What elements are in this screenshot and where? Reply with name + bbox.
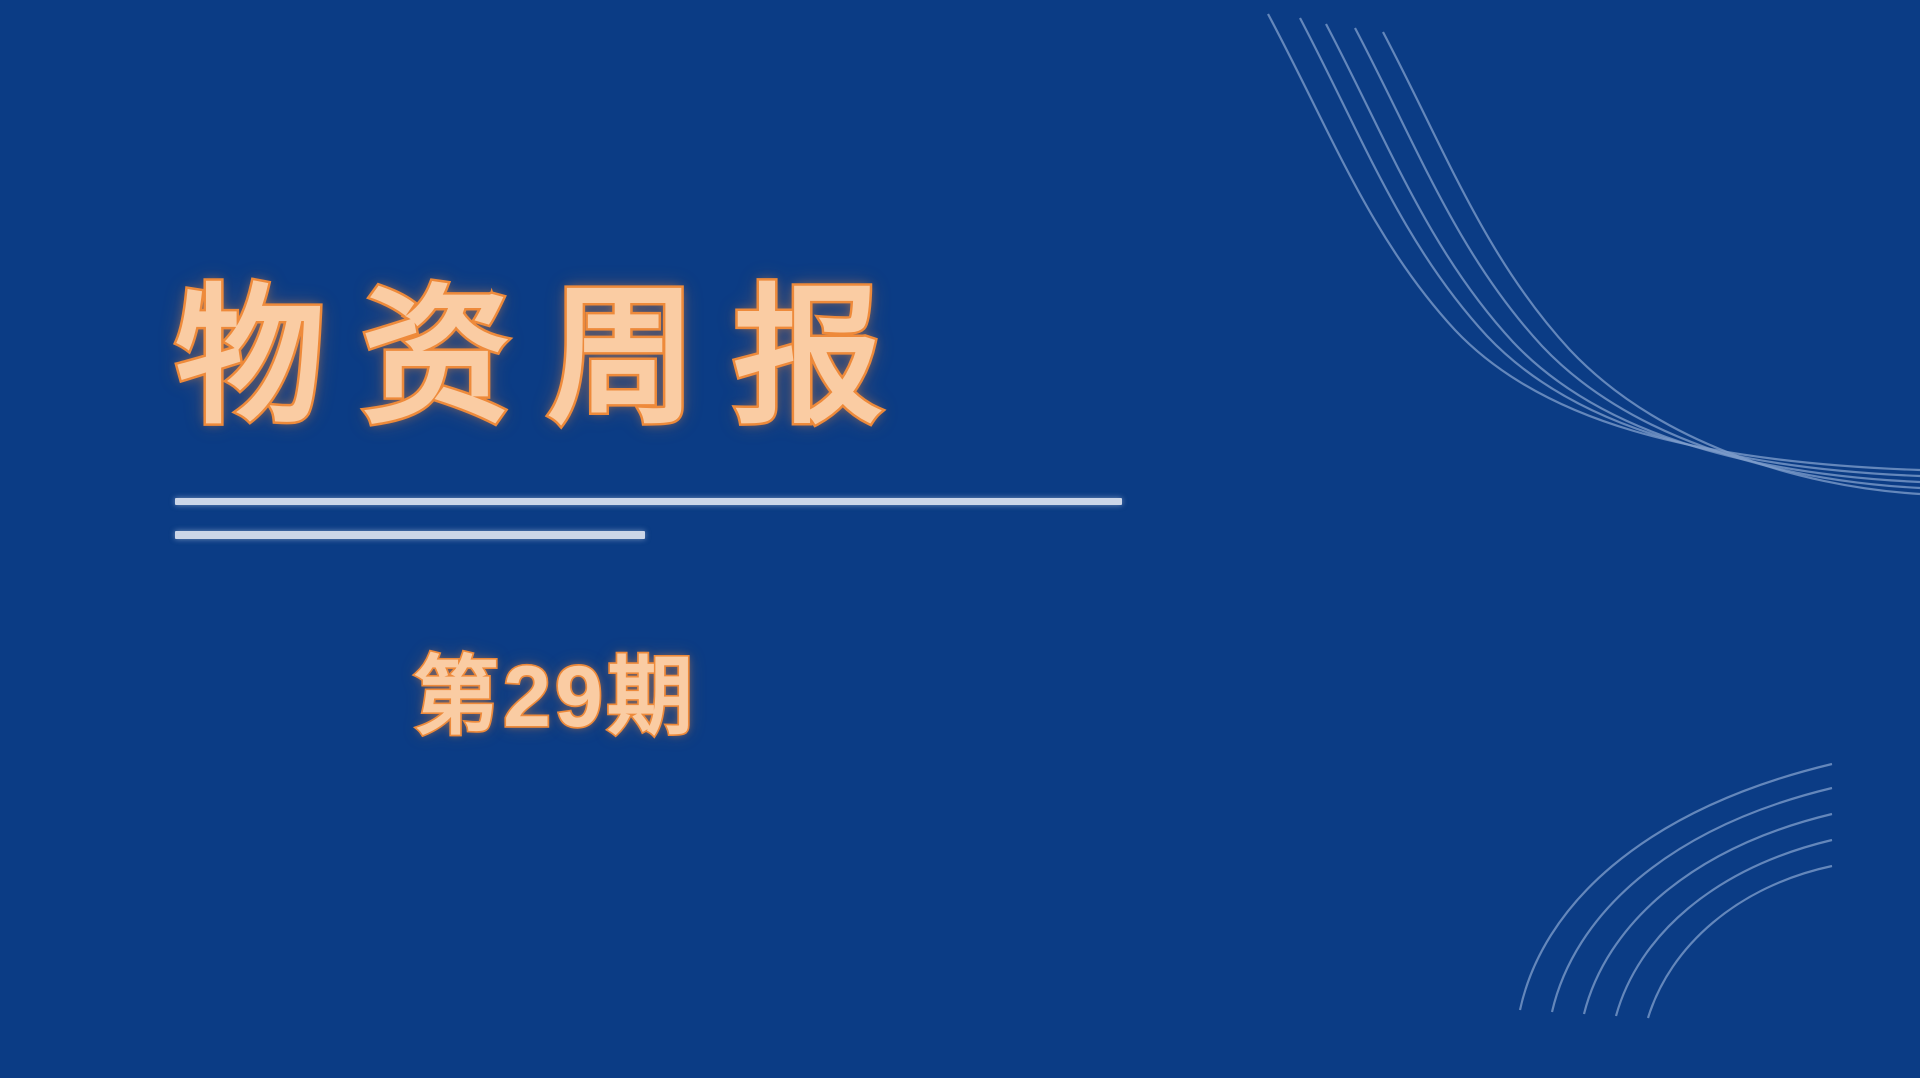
wave-lines-top-right-svg <box>1220 0 1920 520</box>
arc-line-3 <box>1584 814 1832 1014</box>
page-title: 物资周报 <box>175 282 1175 432</box>
arc-lines-bottom-right-svg <box>1490 718 1920 1078</box>
wave-line-4 <box>1355 28 1920 488</box>
headline-block: 物资周报 <box>175 282 1175 432</box>
wave-line-1 <box>1268 14 1920 470</box>
title-underline-long <box>175 498 1122 505</box>
wave-line-3 <box>1326 24 1920 482</box>
wave-lines-top-right-decoration <box>1220 0 1920 520</box>
arc-line-1 <box>1520 764 1832 1010</box>
wave-line-5 <box>1383 32 1920 494</box>
title-slide: 物资周报 第29期 <box>0 0 1920 1078</box>
arc-lines-bottom-right-decoration <box>1490 718 1920 1078</box>
issue-number-label: 第29期 <box>175 648 935 747</box>
title-underlines <box>175 498 1122 539</box>
arc-line-4 <box>1616 840 1832 1016</box>
arc-line-5 <box>1648 866 1832 1018</box>
wave-line-2 <box>1300 18 1920 476</box>
title-underline-short <box>175 531 645 539</box>
arc-line-2 <box>1552 788 1832 1012</box>
